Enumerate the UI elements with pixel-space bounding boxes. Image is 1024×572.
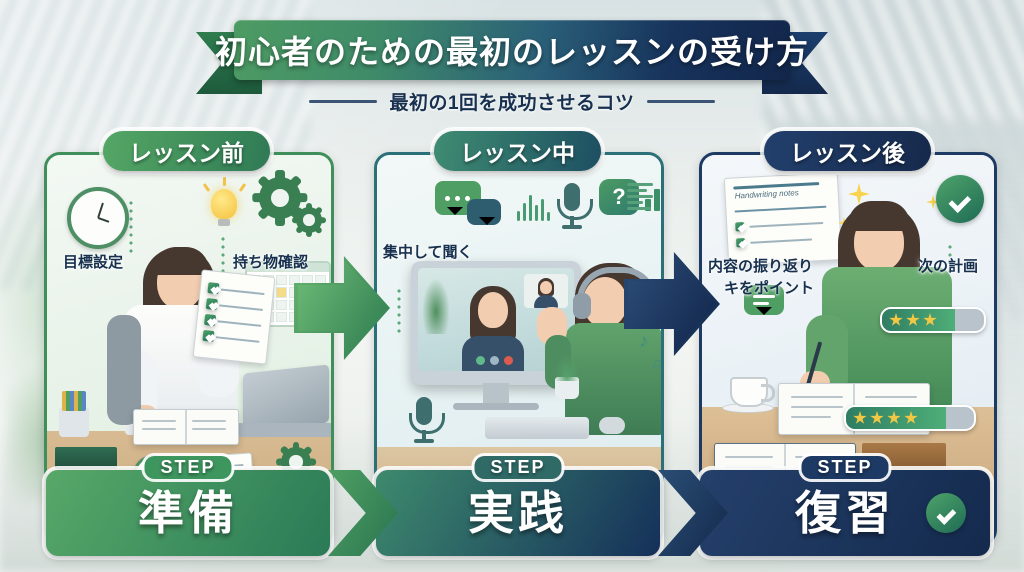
coffee-cup-icon xyxy=(730,377,768,407)
step-label-practice: 実践 xyxy=(468,490,568,536)
monitor-foot xyxy=(453,403,539,410)
laptop-icon xyxy=(243,364,329,431)
lightbulb-ray xyxy=(203,183,211,192)
step-bar-preparation: STEP 準備 xyxy=(46,470,330,556)
label-key-points: キをポイント xyxy=(724,277,814,298)
label-next-plan: 次の計画 xyxy=(918,255,978,276)
mic-arc xyxy=(557,199,593,220)
check-circle-icon xyxy=(926,493,966,533)
checklist-line xyxy=(219,304,263,311)
bubble-dot xyxy=(445,196,450,201)
gear-icon xyxy=(296,207,322,233)
star-icon xyxy=(853,411,867,425)
bubble-line xyxy=(753,302,769,305)
notebook-line xyxy=(192,428,226,430)
section-pill-before: レッスン前 xyxy=(103,131,270,171)
checkmark xyxy=(204,314,216,326)
checklist-icon xyxy=(193,269,276,364)
book-line xyxy=(725,456,773,458)
book-line xyxy=(791,416,831,418)
call-button-camera[interactable] xyxy=(490,356,499,365)
mic-base xyxy=(414,439,434,443)
mic-base xyxy=(562,225,582,229)
text-lines-icon xyxy=(627,183,653,210)
step-bar-practice: STEP 実践 xyxy=(376,470,660,556)
call-button-mic[interactable] xyxy=(476,356,485,365)
section-pill-during: レッスン中 xyxy=(434,131,601,171)
lightbulb-icon xyxy=(211,189,237,219)
laptop-base xyxy=(233,423,334,437)
page-subtitle: 最初の1回を成功させるコツ xyxy=(389,88,634,115)
page-title: 初心者のための最初のレッスンの受け方 xyxy=(215,27,809,73)
checkmark xyxy=(202,330,214,342)
notebook-line xyxy=(192,420,226,422)
notes-checkmark xyxy=(736,238,745,247)
hair-fringe xyxy=(848,201,910,231)
notes-checkmark xyxy=(735,222,744,231)
mouse-icon xyxy=(599,417,625,434)
mic-arc xyxy=(409,413,445,434)
pencil-cup xyxy=(59,407,89,437)
rating-stars xyxy=(882,313,937,327)
open-notebook xyxy=(133,409,239,445)
music-note-icon: ♪ xyxy=(639,331,649,353)
teacher-suit xyxy=(462,336,524,371)
star-icon xyxy=(923,313,937,327)
ribbon-band: 初心者のための最初のレッスンの受け方 xyxy=(234,20,790,80)
waveform-icon xyxy=(517,195,550,221)
gear-icon xyxy=(259,177,301,219)
call-button-end[interactable] xyxy=(504,356,513,365)
subtitle-row: 最初の1回を成功させるコツ xyxy=(0,88,1024,115)
lightbulb-ray xyxy=(223,177,226,186)
checklist-line xyxy=(221,288,265,295)
book-line xyxy=(865,396,917,398)
notebook-line xyxy=(142,428,176,430)
bubble-dot xyxy=(455,196,460,201)
notes-line xyxy=(749,222,823,228)
subtitle-rule-left xyxy=(309,100,377,103)
star-icon xyxy=(889,313,903,327)
rating-bar-bottom xyxy=(844,405,976,431)
notes-line xyxy=(750,239,812,244)
notes-line xyxy=(734,206,826,213)
monitor-stand xyxy=(483,383,509,405)
star-icon xyxy=(906,313,920,327)
checklist-line xyxy=(217,320,261,327)
participant-thumbnail xyxy=(524,274,568,308)
rating-bar-top xyxy=(880,307,986,333)
check-circle-icon xyxy=(936,175,984,223)
label-listen-top: 集中して聞く xyxy=(383,241,473,262)
step-bar-review: STEP 復習 xyxy=(700,470,990,556)
checklist-line xyxy=(216,336,260,343)
pencils xyxy=(62,391,86,411)
step-label-review: 復習 xyxy=(795,490,895,536)
checkmark xyxy=(207,282,219,294)
star-icon xyxy=(870,411,884,425)
notes-paper-icon: Handwriting notes xyxy=(724,172,842,266)
star-icon xyxy=(887,411,901,425)
teacher-head xyxy=(478,292,508,328)
book-line xyxy=(791,396,843,398)
dotted-connector xyxy=(395,287,403,335)
notebook-line xyxy=(142,420,176,422)
step-tag: STEP xyxy=(801,456,888,479)
label-items-check-top: 持ち物確認 xyxy=(233,251,308,272)
step-tag: STEP xyxy=(144,456,231,479)
dotted-connector xyxy=(127,199,135,253)
book-green xyxy=(55,447,117,469)
label-content-review: 内容の振り返り xyxy=(708,255,813,276)
participant-suit xyxy=(534,295,558,308)
chat-bubble-icon-dark xyxy=(467,199,501,225)
section-pill-after: レッスン後 xyxy=(764,131,931,171)
book-line xyxy=(725,466,773,468)
book-line xyxy=(791,406,843,408)
microphone-desk-icon xyxy=(407,397,441,445)
step-label-preparation: 準備 xyxy=(138,490,238,536)
headphone-cup xyxy=(573,293,591,319)
lightbulb-ray xyxy=(239,183,247,192)
rating-stars xyxy=(846,411,918,425)
label-goal-setting-top: 目標設定 xyxy=(63,251,123,272)
microphone-icon xyxy=(555,183,589,231)
infographic-root: 初心者のための最初のレッスンの受け方 最初の1回を成功させるコツ レッスン前 レ… xyxy=(0,0,1024,572)
music-note-icon: ♫ xyxy=(651,355,662,372)
plant-leaves xyxy=(555,355,579,381)
keyboard-icon xyxy=(485,417,589,439)
clock-icon xyxy=(67,187,129,249)
star-icon xyxy=(904,411,918,425)
call-plant xyxy=(422,278,450,334)
step-tag: STEP xyxy=(474,456,561,479)
notes-heading-text: Handwriting notes xyxy=(734,188,798,200)
subtitle-rule-right xyxy=(647,100,715,103)
cup-handle xyxy=(761,384,775,402)
checkmark xyxy=(206,298,218,310)
participant-head xyxy=(540,281,552,294)
title-ribbon: 初心者のための最初のレッスンの受け方 xyxy=(196,20,828,86)
